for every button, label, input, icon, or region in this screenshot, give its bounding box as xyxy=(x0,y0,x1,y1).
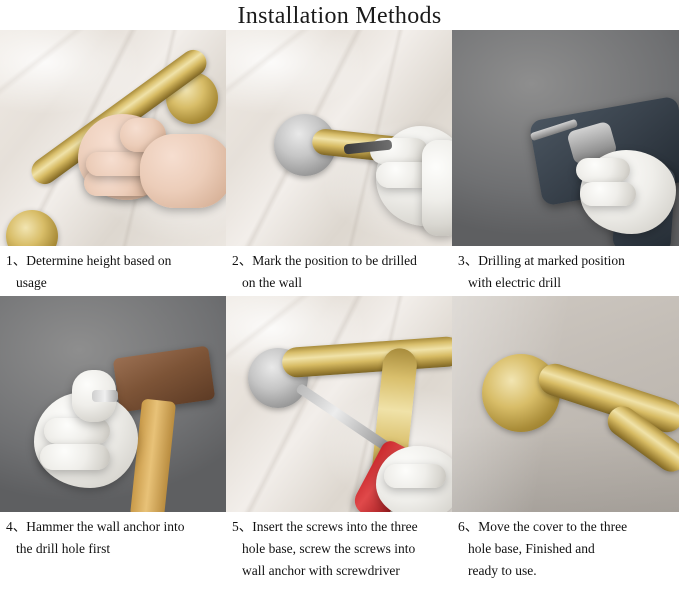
step-card-3: 3、Drilling at marked position with elect… xyxy=(452,30,679,296)
step-5-caption-line-3: wall anchor with screwdriver xyxy=(232,560,444,582)
installation-methods-page: Installation Methods 1、Determine height … xyxy=(0,0,679,596)
gloved-wrist xyxy=(422,140,452,236)
step-4-photo xyxy=(0,296,226,512)
forearm xyxy=(140,134,226,208)
step-card-4: 4、Hammer the wall anchor into the drill … xyxy=(0,296,226,584)
step-4-caption-line-2: the drill hole first xyxy=(6,538,218,560)
step-2-photo xyxy=(226,30,452,246)
step-card-1: 1、Determine height based on usage xyxy=(0,30,226,296)
step-6-photo xyxy=(452,296,679,512)
glove-finger-hammer-1 xyxy=(44,418,110,444)
step-3-caption-line-2: with electric drill xyxy=(458,272,671,294)
step-6-caption-line-1: 6、Move the cover to the three xyxy=(458,516,671,538)
glove-finger-hammer-2 xyxy=(40,444,110,470)
steps-grid: 1、Determine height based on usage 2、Mark… xyxy=(0,30,679,584)
step-4-caption: 4、Hammer the wall anchor into the drill … xyxy=(0,512,226,562)
step-6-caption: 6、Move the cover to the three hole base,… xyxy=(452,512,679,584)
step-2-caption: 2、Mark the position to be drilled on the… xyxy=(226,246,452,296)
step-2-caption-line-2: on the wall xyxy=(232,272,444,294)
wall-anchor xyxy=(92,390,118,402)
glove-finger-sd-1 xyxy=(384,464,446,488)
step-4-caption-line-1: 4、Hammer the wall anchor into xyxy=(6,516,218,538)
step-3-photo xyxy=(452,30,679,246)
step-5-caption-line-2: hole base, screw the screws into xyxy=(232,538,444,560)
page-title: Installation Methods xyxy=(0,0,679,30)
glove-finger-drill-2 xyxy=(580,182,636,206)
step-1-photo xyxy=(0,30,226,246)
step-card-5: 5、Insert the screws into the three hole … xyxy=(226,296,452,584)
step-1-caption: 1、Determine height based on usage xyxy=(0,246,226,296)
step-5-caption-line-1: 5、Insert the screws into the three xyxy=(232,516,444,538)
step-5-photo xyxy=(226,296,452,512)
step-3-caption-line-1: 3、Drilling at marked position xyxy=(458,250,671,272)
step-6-caption-line-3: ready to use. xyxy=(458,560,671,582)
step-card-6: 6、Move the cover to the three hole base,… xyxy=(452,296,679,584)
step-1-caption-line-1: 1、Determine height based on xyxy=(6,250,218,272)
glove-finger-drill-1 xyxy=(576,158,630,182)
step-1-caption-line-2: usage xyxy=(6,272,218,294)
step-6-caption-line-2: hole base, Finished and xyxy=(458,538,671,560)
step-card-2: 2、Mark the position to be drilled on the… xyxy=(226,30,452,296)
step-5-caption: 5、Insert the screws into the three hole … xyxy=(226,512,452,584)
step-2-caption-line-1: 2、Mark the position to be drilled xyxy=(232,250,444,272)
step-3-caption: 3、Drilling at marked position with elect… xyxy=(452,246,679,296)
